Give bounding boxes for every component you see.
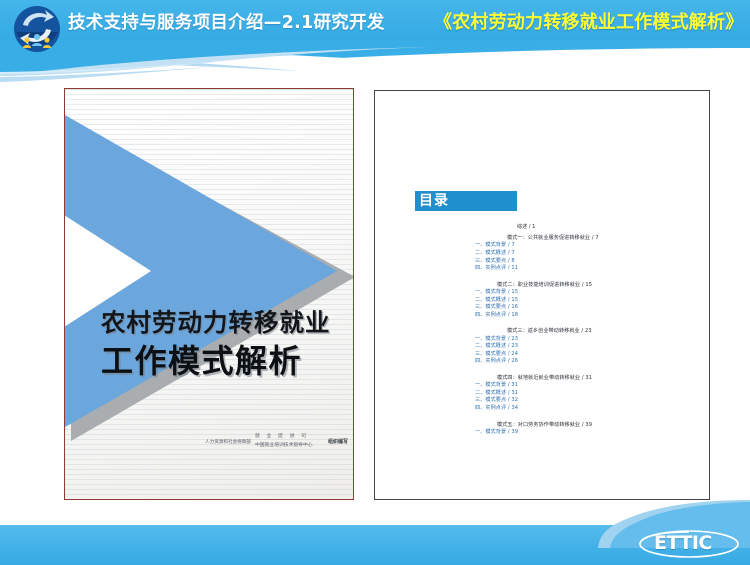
toc-group: 模式一：公共就业服务促进转移就业 / 7一、模式背景 / 7二、模式概述 / 7…	[375, 234, 710, 273]
book-org-center: 中国就业培训技术指导中心	[255, 443, 313, 449]
toc-group-heading: 模式四：就地就近就业带动转移就业 / 31	[375, 374, 710, 382]
toc-sub-entry: 四、实例点评 / 18	[375, 312, 710, 320]
toc-sub-entry: 一、模式背景 / 39	[375, 429, 710, 437]
header-curve-accent	[0, 40, 750, 82]
toc-banner-label: 目录	[419, 193, 449, 209]
toc-group-heading: 模式三：返乡创业带动转移就业 / 23	[375, 327, 710, 335]
cettic-emblem-icon	[10, 2, 64, 58]
toc-group: 模式二：职业技能培训促进转移就业 / 15一、模式背景 / 15二、模式概述 /…	[375, 281, 710, 320]
toc-preface-entry: 综述 / 1	[375, 223, 710, 231]
toc-group-heading: 模式一：公共就业服务促进转移就业 / 7	[375, 234, 710, 242]
toc-sub-entry: 二、模式概述 / 15	[375, 297, 710, 305]
book-title-line-1: 农村劳动力转移就业	[101, 311, 333, 336]
cettic-wordmark-logo: ETTIC	[638, 529, 740, 559]
toc-group: 模式四：就地就近就业带动转移就业 / 31一、模式背景 / 31二、模式概述 /…	[375, 374, 710, 413]
toc-sub-entry: 四、实例点评 / 34	[375, 405, 710, 413]
header-title-main: 技术支持与服务项目介绍—2.1研究开发	[68, 9, 385, 34]
toc-sub-entry: 四、实例点评 / 26	[375, 358, 710, 366]
toc-group: 模式三：返乡创业带动转移就业 / 23一、模式背景 / 23二、模式概述 / 2…	[375, 327, 710, 366]
toc-sub-entry: 三、模式要点 / 24	[375, 351, 710, 359]
toc-sub-entry: 三、模式要点 / 32	[375, 397, 710, 405]
toc-sub-entry: 一、模式背景 / 15	[375, 289, 710, 297]
book-org-ministry: 人力资源和社会保障部	[205, 440, 251, 445]
toc-sub-entry: 三、模式要点 / 16	[375, 304, 710, 312]
book-title-line-2: 工作模式解析	[101, 345, 333, 377]
toc-sub-entry: 一、模式背景 / 31	[375, 382, 710, 390]
toc-page-image: 目录 综述 / 1模式一：公共就业服务促进转移就业 / 7一、模式背景 / 7二…	[374, 90, 710, 500]
slide-canvas: 技术支持与服务项目介绍—2.1研究开发 《农村劳动力转移就业工作模式解析》 农村…	[0, 0, 750, 565]
header-title-subject: 《农村劳动力转移就业工作模式解析》	[434, 8, 743, 34]
toc-group: 模式五：对口劳务协作带动转移就业 / 39一、模式背景 / 39	[375, 421, 710, 437]
toc-sub-entry: 二、模式概述 / 23	[375, 343, 710, 351]
header-swoosh-decoration	[0, 40, 750, 82]
toc-sub-entry: 一、模式背景 / 23	[375, 336, 710, 344]
toc-sub-entry: 三、模式要点 / 8	[375, 258, 710, 266]
book-org-department: 就 业 促 进 司	[255, 434, 308, 440]
toc-sub-entry: 四、实例点评 / 11	[375, 265, 710, 273]
toc-group-heading: 模式二：职业技能培训促进转移就业 / 15	[375, 281, 710, 289]
book-org-compiled-by: 组织编写	[328, 440, 348, 446]
toc-sub-entry: 二、模式概述 / 7	[375, 250, 710, 258]
toc-group-heading: 模式五：对口劳务协作带动转移就业 / 39	[375, 421, 710, 429]
toc-sub-entry: 一、模式背景 / 7	[375, 242, 710, 250]
book-cover-artwork	[65, 89, 354, 500]
book-cover-image: 农村劳动力转移就业 工作模式解析 人力资源和社会保障部 就 业 促 进 司 中国…	[64, 88, 354, 500]
toc-sub-entry: 二、模式概述 / 31	[375, 390, 710, 398]
toc-entries-list: 综述 / 1模式一：公共就业服务促进转移就业 / 7一、模式背景 / 7二、模式…	[375, 223, 710, 439]
toc-banner: 目录	[415, 191, 517, 211]
cettic-logo-text: ETTIC	[654, 532, 712, 554]
